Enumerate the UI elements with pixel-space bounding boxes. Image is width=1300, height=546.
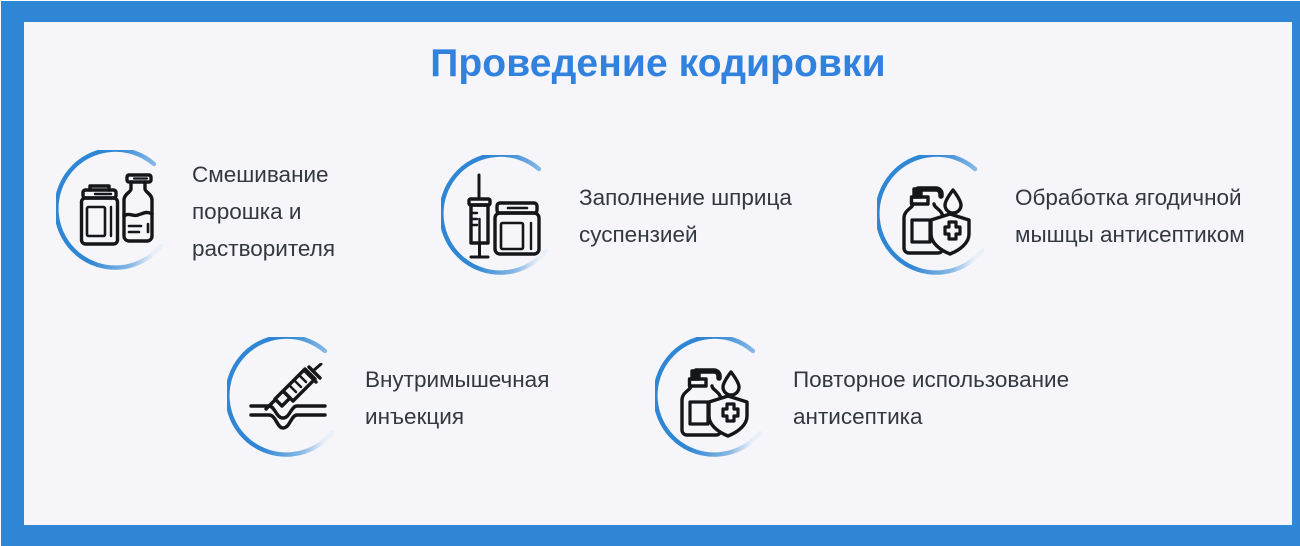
syringe-and-vial-icon xyxy=(441,155,563,277)
step-item-1[interactable]: Смешивание порошка и растворителя xyxy=(56,150,382,272)
step-3-circle xyxy=(877,155,999,277)
step-item-3[interactable]: Обработка ягодичной мышцы антисептиком xyxy=(877,155,1275,277)
page-title: Проведение кодировки xyxy=(24,42,1292,86)
step-3-label: Обработка ягодичной мышцы антисептиком xyxy=(1015,179,1275,253)
step-1-label: Смешивание порошка и растворителя xyxy=(192,156,382,267)
step-4-circle xyxy=(227,337,349,459)
step-1-circle xyxy=(56,150,178,272)
step-item-4[interactable]: Внутримышечная инъекция xyxy=(227,337,595,459)
content-panel: Проведение кодировки xyxy=(24,22,1292,525)
poster-frame: Проведение кодировки xyxy=(0,0,1300,546)
step-4-label: Внутримышечная инъекция xyxy=(365,361,595,435)
step-2-label: Заполнение шприца суспензией xyxy=(579,179,829,253)
vial-and-bottle-icon xyxy=(56,150,178,272)
step-item-2[interactable]: Заполнение шприца суспензией xyxy=(441,155,829,277)
antiseptic-shield-icon xyxy=(655,337,777,459)
step-5-label: Повторное использование антисептика xyxy=(793,361,1123,435)
antiseptic-shield-icon xyxy=(877,155,999,277)
step-item-5[interactable]: Повторное использование антисептика xyxy=(655,337,1123,459)
intramuscular-injection-icon xyxy=(227,337,349,459)
step-5-circle xyxy=(655,337,777,459)
step-2-circle xyxy=(441,155,563,277)
